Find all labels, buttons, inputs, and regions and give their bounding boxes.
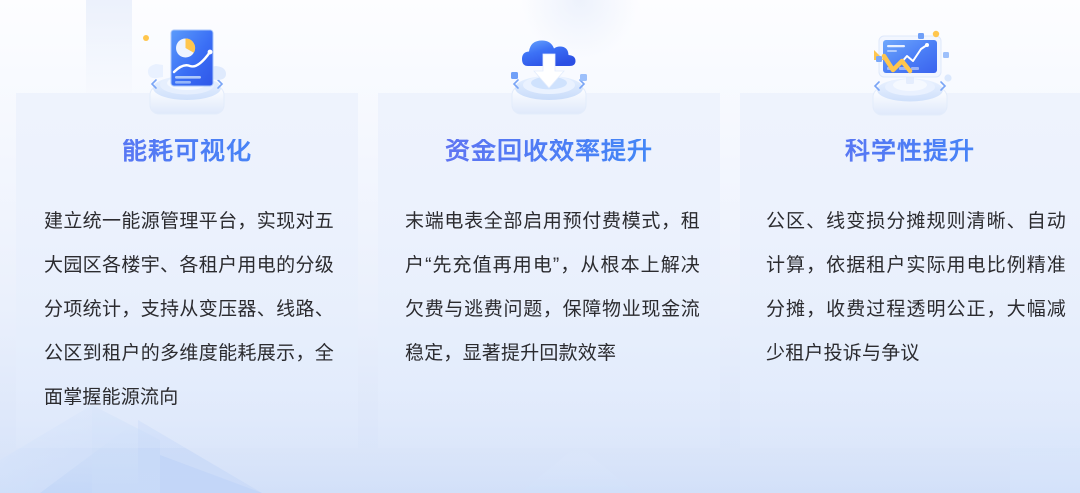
monitor-trend-platform-icon	[740, 20, 1080, 120]
cloud-download-platform-icon	[378, 20, 720, 120]
feature-card[interactable]: 科学性提升 公区、线变损分摊规则清晰、自动计算，依据租户实际用电比例精准分摊，收…	[740, 93, 1080, 448]
card-body-text: 公区、线变损分摊规则清晰、自动计算，依据租户实际用电比例精准分摊，收费过程透明公…	[766, 200, 1066, 376]
feature-card-list: 能耗可视化 建立统一能源管理平台，实现对五大园区各楼宇、各租户用电的分级分项统计…	[0, 93, 1080, 448]
card-title: 科学性提升	[740, 139, 1080, 164]
card-title: 资金回收效率提升	[378, 139, 720, 164]
report-chart-platform-icon	[16, 20, 358, 120]
card-body-text: 建立统一能源管理平台，实现对五大园区各楼宇、各租户用电的分级分项统计，支持从变压…	[44, 200, 334, 420]
feature-cards-banner: 能耗可视化 建立统一能源管理平台，实现对五大园区各楼宇、各租户用电的分级分项统计…	[0, 0, 1080, 493]
feature-card[interactable]: 能耗可视化 建立统一能源管理平台，实现对五大园区各楼宇、各租户用电的分级分项统计…	[16, 93, 358, 448]
card-body-text: 末端电表全部启用预付费模式，租户“先充值再用电”，从根本上解决欠费与逃费问题，保…	[405, 200, 700, 376]
card-title: 能耗可视化	[16, 139, 358, 164]
feature-card[interactable]: 资金回收效率提升 末端电表全部启用预付费模式，租户“先充值再用电”，从根本上解决…	[378, 93, 720, 448]
